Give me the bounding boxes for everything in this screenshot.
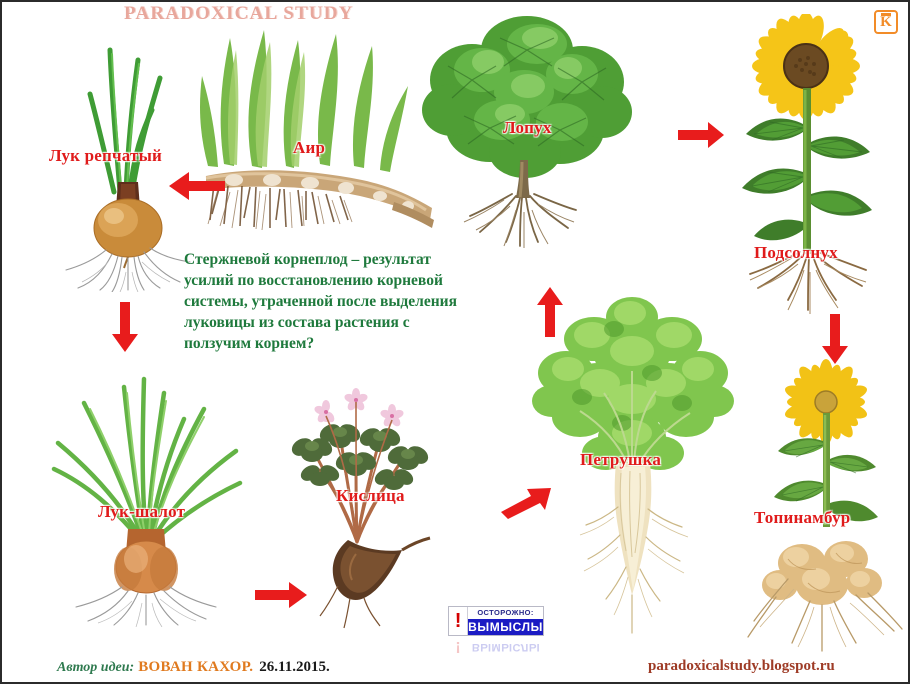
question-line-2: усилий по восстановлению корневой	[184, 270, 504, 291]
plant-label-jerusalem: Топинамбур	[754, 508, 850, 528]
plant-label-onion: Лук репчатый	[49, 146, 162, 166]
exclamation-icon: !	[449, 607, 468, 635]
question-line-5: ползучим корнем?	[184, 333, 504, 354]
plant-image-jerusalem	[742, 357, 910, 657]
arrow-onion-to-shallot	[110, 302, 140, 354]
plant-label-parsley: Петрушка	[580, 450, 661, 470]
warning-badge-reflection: ! ВЫМЫСЛЫ	[448, 637, 544, 655]
plant-image-shallot	[32, 357, 262, 627]
footer-url[interactable]: paradoxicalstudy.blogspot.ru	[648, 658, 835, 675]
question-line-3: системы, утраченной после выделения	[184, 291, 504, 312]
warning-reflection-text: ВЫМЫСЛЫ	[470, 639, 542, 655]
central-question: Стержневой корнеплод – результат усилий …	[184, 249, 504, 354]
warning-badge: ! ОСТОРОЖНО: ВЫМЫСЛЫ	[448, 606, 544, 636]
warning-reflection-bang: !	[448, 637, 468, 655]
arrow-parsley-to-burdock	[535, 285, 565, 337]
question-line-1: Стержневой корнеплод – результат	[184, 249, 504, 270]
warning-badge-bottom-text: ВЫМЫСЛЫ	[468, 619, 543, 635]
warning-badge-body: ОСТОРОЖНО: ВЫМЫСЛЫ	[468, 607, 543, 635]
question-line-4: луковицы из состава растения с	[184, 312, 504, 333]
footer-credit: Автор идеи:ВОВАН КАХОР.26.11.2015.	[57, 658, 330, 676]
footer-author-prefix: Автор идеи:	[57, 660, 134, 675]
arrow-woodsorrel-to-parsley	[499, 484, 555, 520]
arrow-calamus-to-onion	[167, 170, 225, 202]
plant-label-calamus: Аир	[293, 138, 325, 158]
arrow-shallot-to-woodsorrel	[255, 580, 309, 610]
warning-badge-top-text: ОСТОРОЖНО:	[468, 607, 543, 619]
slide-canvas: PARADOXICAL STUDY K	[0, 0, 910, 684]
plant-label-sunflower: Подсолнух	[754, 243, 838, 263]
plant-label-shallot: Лук-шалот	[98, 502, 185, 522]
plant-image-calamus	[194, 24, 444, 239]
arrow-burdock-to-sunflower	[678, 120, 726, 150]
footer-date: 26.11.2015.	[259, 659, 329, 675]
plant-image-sunflower	[714, 14, 904, 324]
arrow-sunflower-to-jerusalem	[820, 314, 850, 366]
page-title: PARADOXICAL STUDY	[124, 3, 354, 25]
footer-author-name: ВОВАН КАХОР.	[138, 659, 253, 675]
plant-label-burdock: Лопух	[503, 118, 552, 138]
plant-label-woodsorrel: Кислица	[336, 486, 405, 506]
